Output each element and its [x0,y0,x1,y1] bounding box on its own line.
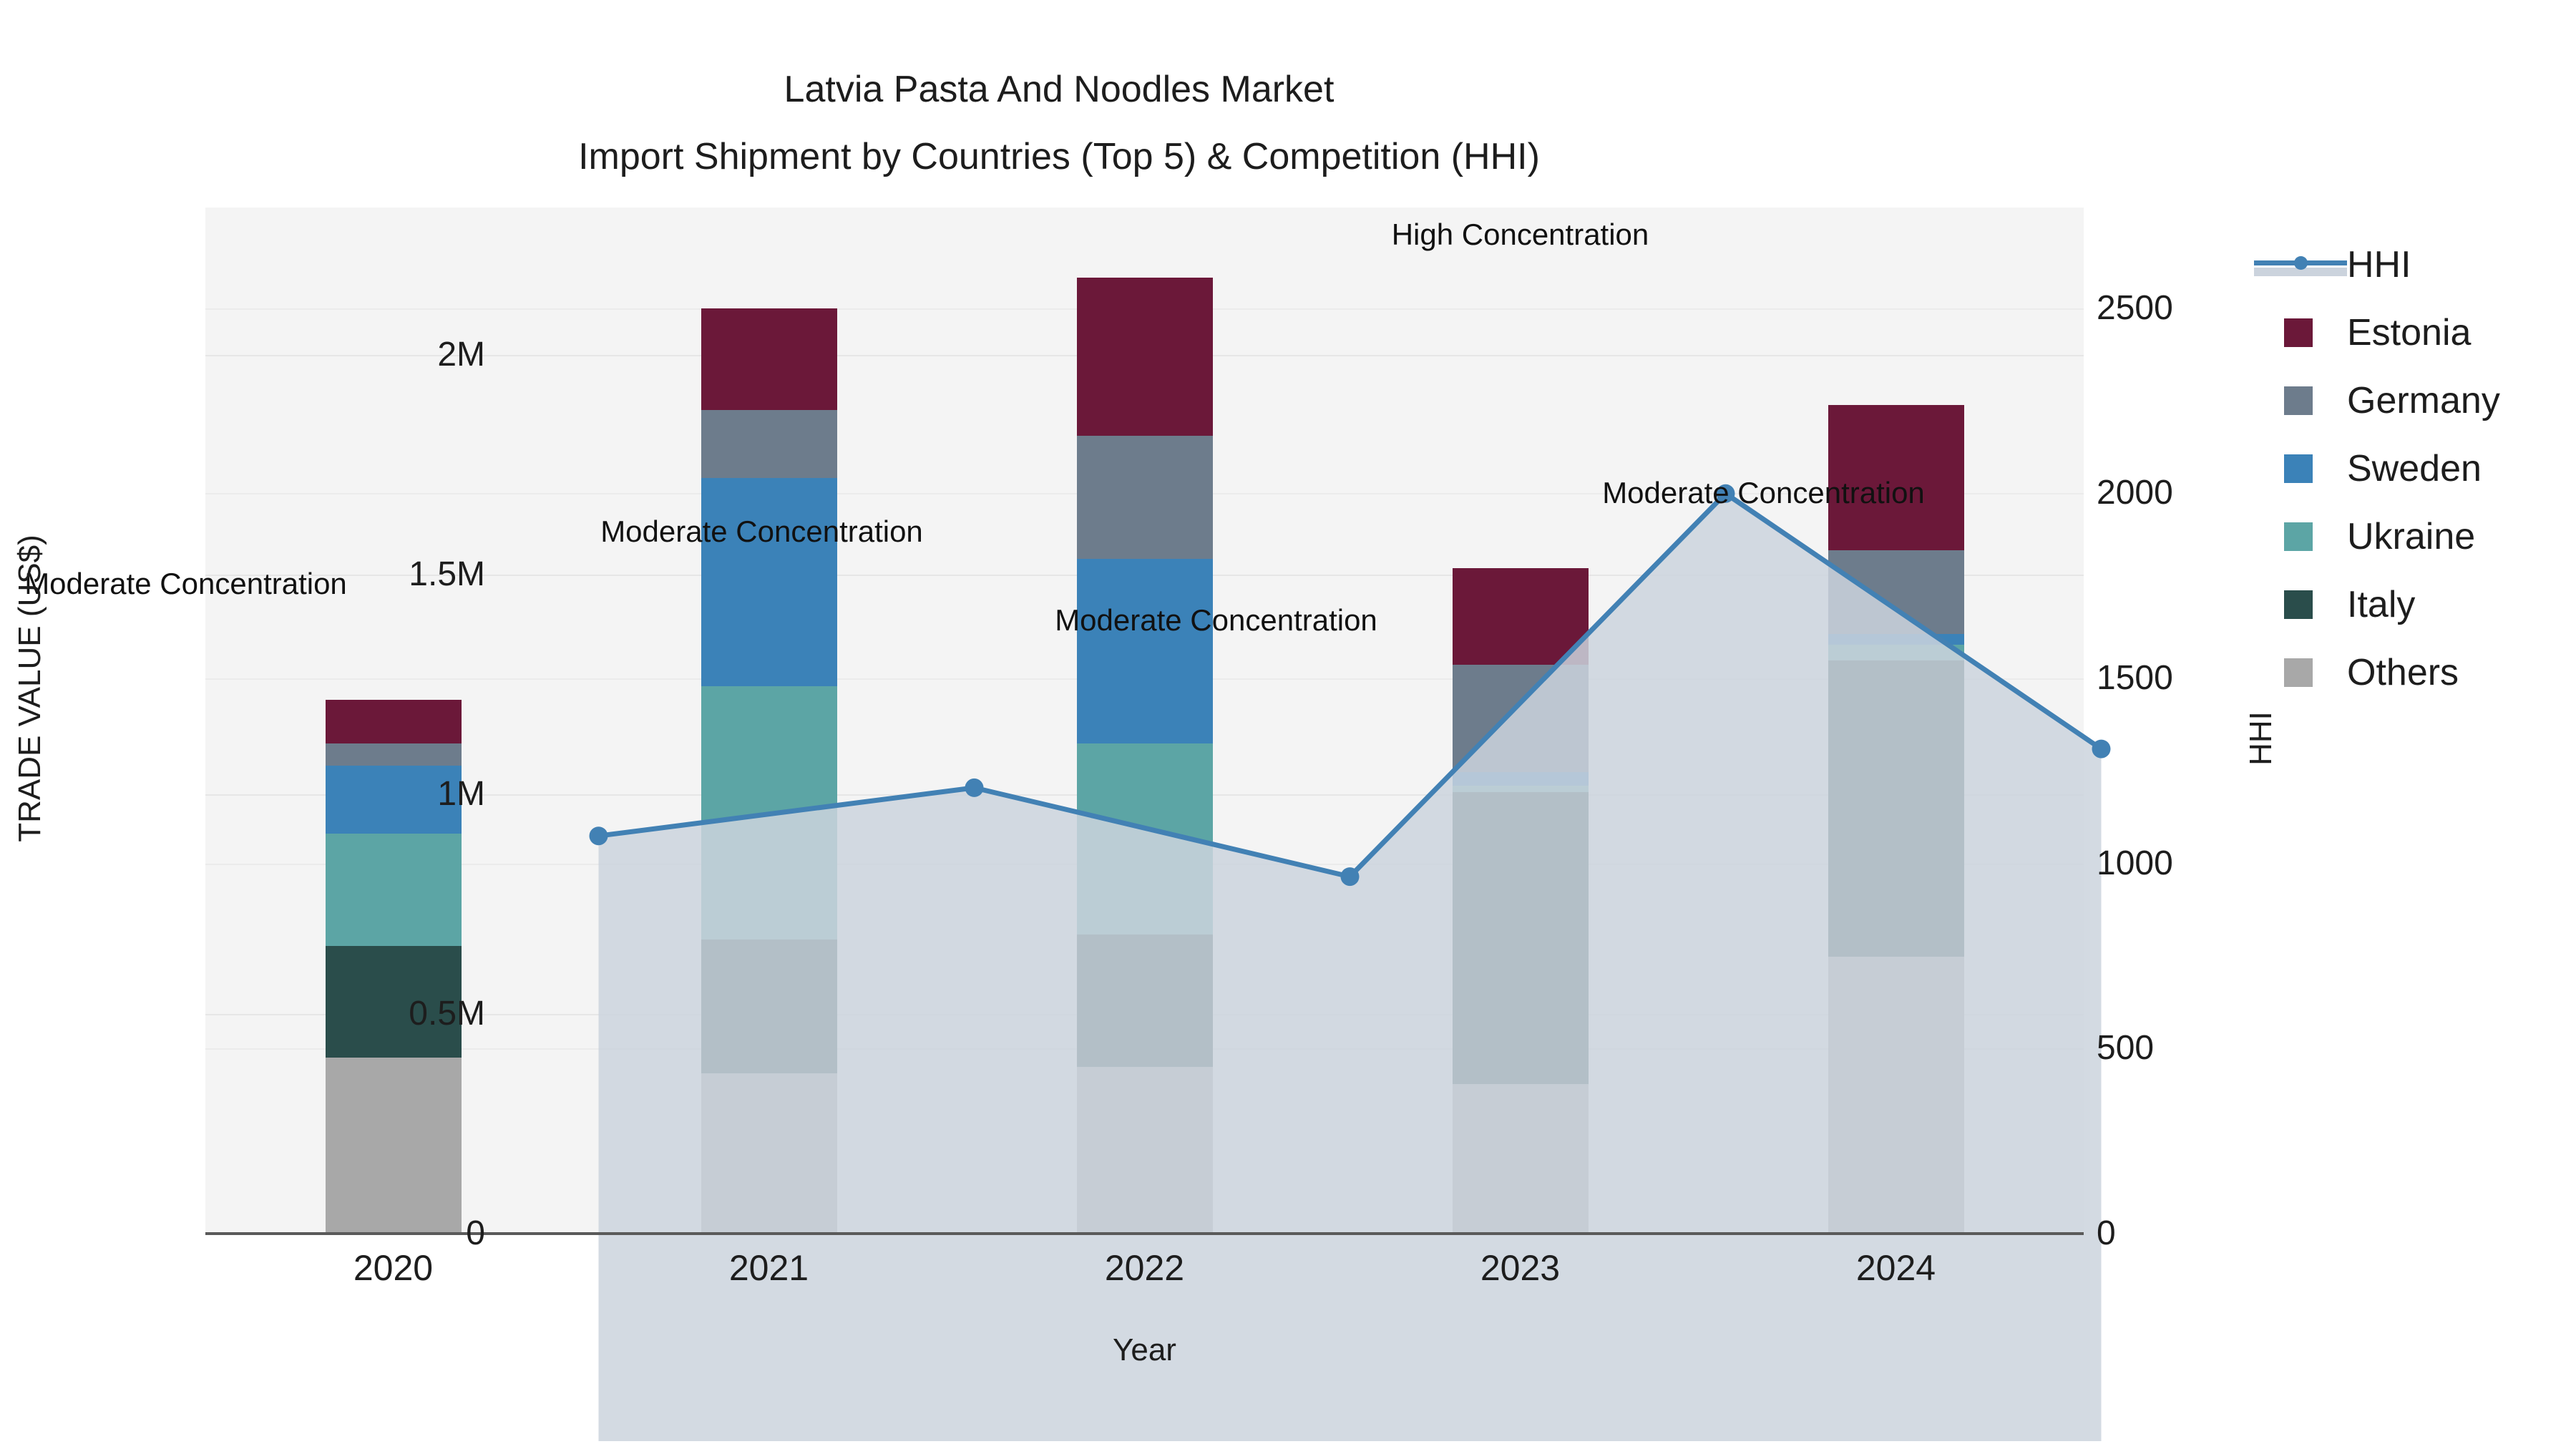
bar-segment-germany-2021[interactable] [701,410,837,478]
chart-legend: HHIEstoniaGermanySwedenUkraineItalyOther… [2254,230,2562,706]
annotation-2023: High Concentration [1392,218,1649,251]
y-tick-right-1500: 1500 [2097,661,2173,696]
bar-segment-others-2023[interactable] [1453,1084,1589,1234]
bar-segment-ukraine-2022[interactable] [1077,743,1213,935]
bar-group-2023[interactable] [1453,208,1589,1234]
legend-item-others[interactable]: Others [2254,638,2562,706]
x-tick-2023: 2023 [1392,1246,1649,1289]
bar-group-2021[interactable] [701,208,837,1234]
hhi-marker-2024[interactable] [2092,740,2111,758]
legend-label: HHI [2347,245,2411,285]
legend-item-sweden[interactable]: Sweden [2254,434,2562,502]
bar-segment-others-2020[interactable] [326,1058,462,1234]
y-tick-left-2M: 2M [437,338,485,372]
legend-label: Ukraine [2347,517,2475,557]
bar-segment-sweden-2023[interactable] [1453,772,1589,785]
bar-segment-estonia-2021[interactable] [701,308,837,409]
legend-swatch-ukraine [2284,522,2313,551]
bar-segment-germany-2024[interactable] [1828,550,1964,634]
legend-item-italy[interactable]: Italy [2254,570,2562,638]
y-tick-right-2500: 2500 [2097,291,2173,326]
bar-segment-estonia-2022[interactable] [1077,278,1213,436]
bar-segment-germany-2023[interactable] [1453,665,1589,772]
legend-item-ukraine[interactable]: Ukraine [2254,502,2562,570]
bar-group-2024[interactable] [1828,208,1964,1234]
annotation-2021: Moderate Concentration [600,515,923,548]
legend-item-hhi[interactable]: HHI [2254,230,2562,298]
bar-segment-italy-2023[interactable] [1453,792,1589,1084]
legend-label: Others [2347,653,2459,693]
legend-swatch-others [2284,658,2313,687]
legend-swatch-italy [2284,590,2313,619]
chart-figure: Latvia Pasta And Noodles Market Import S… [0,0,2576,1449]
x-tick-2022: 2022 [1016,1246,1274,1289]
y-tick-left-0.5M: 0.5M [409,997,485,1031]
bar-segment-ukraine-2020[interactable] [326,834,462,946]
legend-label: Germany [2347,381,2500,421]
bar-segment-ukraine-2023[interactable] [1453,786,1589,792]
bar-segment-sweden-2022[interactable] [1077,559,1213,743]
bar-segment-sweden-2024[interactable] [1828,634,1964,645]
y-axis-left-title: TRADE VALUE (US$) [14,502,46,874]
legend-line-key-icon [2254,250,2347,279]
legend-swatch-sweden [2284,454,2313,483]
annotation-2024: Moderate Concentration [1602,477,1925,509]
bar-segment-ukraine-2021[interactable] [701,686,837,939]
x-tick-2024: 2024 [1767,1246,2025,1289]
legend-label: Estonia [2347,313,2471,353]
bar-segment-others-2024[interactable] [1828,957,1964,1234]
y-tick-right-1000: 1000 [2097,847,2173,881]
y-tick-right-500: 500 [2097,1031,2154,1065]
y-tick-left-0: 0 [466,1216,485,1251]
legend-item-estonia[interactable]: Estonia [2254,298,2562,366]
bar-segment-sweden-2021[interactable] [701,478,837,687]
hhi-marker-2022[interactable] [1341,867,1360,886]
legend-line-marker-icon [2294,256,2308,270]
bar-segment-germany-2022[interactable] [1077,436,1213,559]
bar-segment-italy-2021[interactable] [701,940,837,1073]
x-tick-2021: 2021 [640,1246,898,1289]
annotation-2022: Moderate Concentration [1055,604,1377,637]
legend-label: Sweden [2347,449,2482,489]
plot-area [205,208,2084,1234]
legend-swatch-estonia [2284,318,2313,347]
annotation-2020: Moderate Concentration [24,567,347,600]
legend-label: Italy [2347,585,2415,625]
hhi-marker-2020[interactable] [590,826,608,845]
bar-segment-germany-2020[interactable] [326,743,462,766]
y-tick-left-1M: 1M [437,777,485,811]
bar-segment-estonia-2020[interactable] [326,700,462,743]
bar-segment-others-2021[interactable] [701,1073,837,1234]
bar-segment-italy-2022[interactable] [1077,935,1213,1066]
legend-swatch-germany [2284,386,2313,415]
x-axis-line [205,1232,2084,1235]
y-tick-right-2000: 2000 [2097,476,2173,510]
y-tick-right-0: 0 [2097,1216,2116,1251]
bar-segment-estonia-2023[interactable] [1453,568,1589,665]
x-axis-title: Year [205,1332,2084,1368]
bar-segment-italy-2024[interactable] [1828,660,1964,957]
bar-group-2022[interactable] [1077,208,1213,1234]
chart-subtitle: Import Shipment by Countries (Top 5) & C… [0,123,2118,190]
chart-title: Latvia Pasta And Noodles Market [0,56,2118,123]
x-tick-2020: 2020 [265,1246,522,1289]
bar-segment-ukraine-2024[interactable] [1828,645,1964,660]
y-tick-left-1.5M: 1.5M [409,557,485,592]
bar-segment-others-2022[interactable] [1077,1067,1213,1234]
legend-item-germany[interactable]: Germany [2254,366,2562,434]
